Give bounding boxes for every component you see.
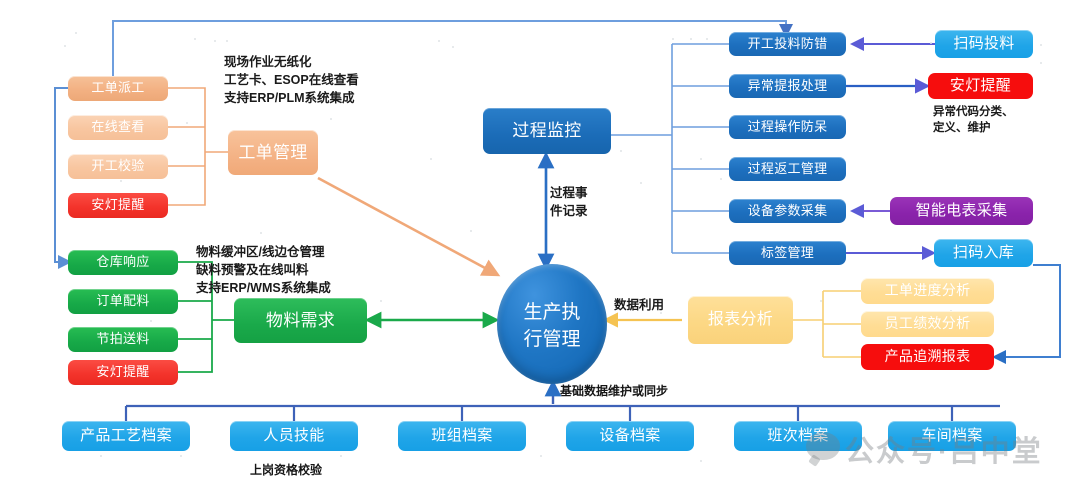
node-personnel-skill-archive[interactable]: 人员技能 — [230, 421, 358, 451]
node-report-analysis[interactable]: 报表分析 — [688, 296, 793, 344]
diagram-canvas: 工单派工 在线查看 开工校验 安灯提醒 工单管理 现场作业无纸化 工艺卡、ESO… — [0, 0, 1080, 485]
note-anomaly-code: 异常代码分类、 定义、维护 — [933, 104, 1014, 137]
node-work-order-dispatch[interactable]: 工单派工 — [68, 76, 168, 101]
node-process-operation-foolproofing[interactable]: 过程操作防呆 — [729, 115, 846, 139]
node-start-check[interactable]: 开工校验 — [68, 154, 168, 179]
node-work-order-management[interactable]: 工单管理 — [228, 130, 318, 175]
node-andon-alert-work-order[interactable]: 安灯提醒 — [68, 193, 168, 218]
connector-layer — [0, 0, 1080, 485]
node-label-management[interactable]: 标签管理 — [729, 241, 846, 265]
note-material: 物料缓冲区/线边仓管理 缺料预警及在线叫料 支持ERP/WMS系统集成 — [196, 244, 331, 297]
node-online-view[interactable]: 在线查看 — [68, 115, 168, 140]
note-work-order: 现场作业无纸化 工艺卡、ESOP在线查看 支持ERP/PLM系统集成 — [224, 54, 359, 107]
node-order-kitting[interactable]: 订单配料 — [68, 289, 178, 314]
node-work-order-progress-analysis[interactable]: 工单进度分析 — [861, 278, 994, 304]
node-warehouse-response[interactable]: 仓库响应 — [68, 250, 178, 275]
node-process-monitoring[interactable]: 过程监控 — [483, 108, 611, 154]
node-equipment-parameter-collection[interactable]: 设备参数采集 — [729, 199, 846, 223]
node-andon-alert-material[interactable]: 安灯提醒 — [68, 360, 178, 385]
node-product-process-archive[interactable]: 产品工艺档案 — [62, 421, 190, 451]
node-takt-feeding[interactable]: 节拍送料 — [68, 327, 178, 352]
node-workshop-archive[interactable]: 车间档案 — [888, 421, 1016, 451]
node-employee-performance-analysis[interactable]: 员工绩效分析 — [861, 311, 994, 337]
edge-label-base-data-sync: 基础数据维护或同步 — [560, 383, 668, 400]
node-product-traceability-report[interactable]: 产品追溯报表 — [861, 344, 994, 370]
node-production-execution-management[interactable]: 生产执 行管理 — [497, 264, 607, 384]
center-line-2: 行管理 — [523, 324, 580, 351]
node-scan-code-feeding[interactable]: 扫码投料 — [935, 30, 1033, 58]
node-smart-meter-collection[interactable]: 智能电表采集 — [890, 197, 1033, 225]
node-start-feeding-error-proofing[interactable]: 开工投料防错 — [729, 32, 846, 56]
edge-label-data-utilization: 数据利用 — [614, 297, 664, 315]
node-material-demand[interactable]: 物料需求 — [234, 298, 367, 343]
footnote-qualification-check: 上岗资格校验 — [250, 462, 322, 479]
node-shift-archive[interactable]: 班次档案 — [734, 421, 862, 451]
node-team-archive[interactable]: 班组档案 — [398, 421, 526, 451]
center-line-1: 生产执 — [523, 297, 580, 324]
node-process-rework-management[interactable]: 过程返工管理 — [729, 157, 846, 181]
node-abnormal-report-handling[interactable]: 异常提报处理 — [729, 74, 846, 98]
node-equipment-archive[interactable]: 设备档案 — [566, 421, 694, 451]
node-andon-alert-monitor[interactable]: 安灯提醒 — [928, 73, 1033, 99]
edge-label-process-event-record: 过程事 件记录 — [550, 185, 588, 221]
node-scan-code-warehousing[interactable]: 扫码入库 — [934, 239, 1033, 267]
